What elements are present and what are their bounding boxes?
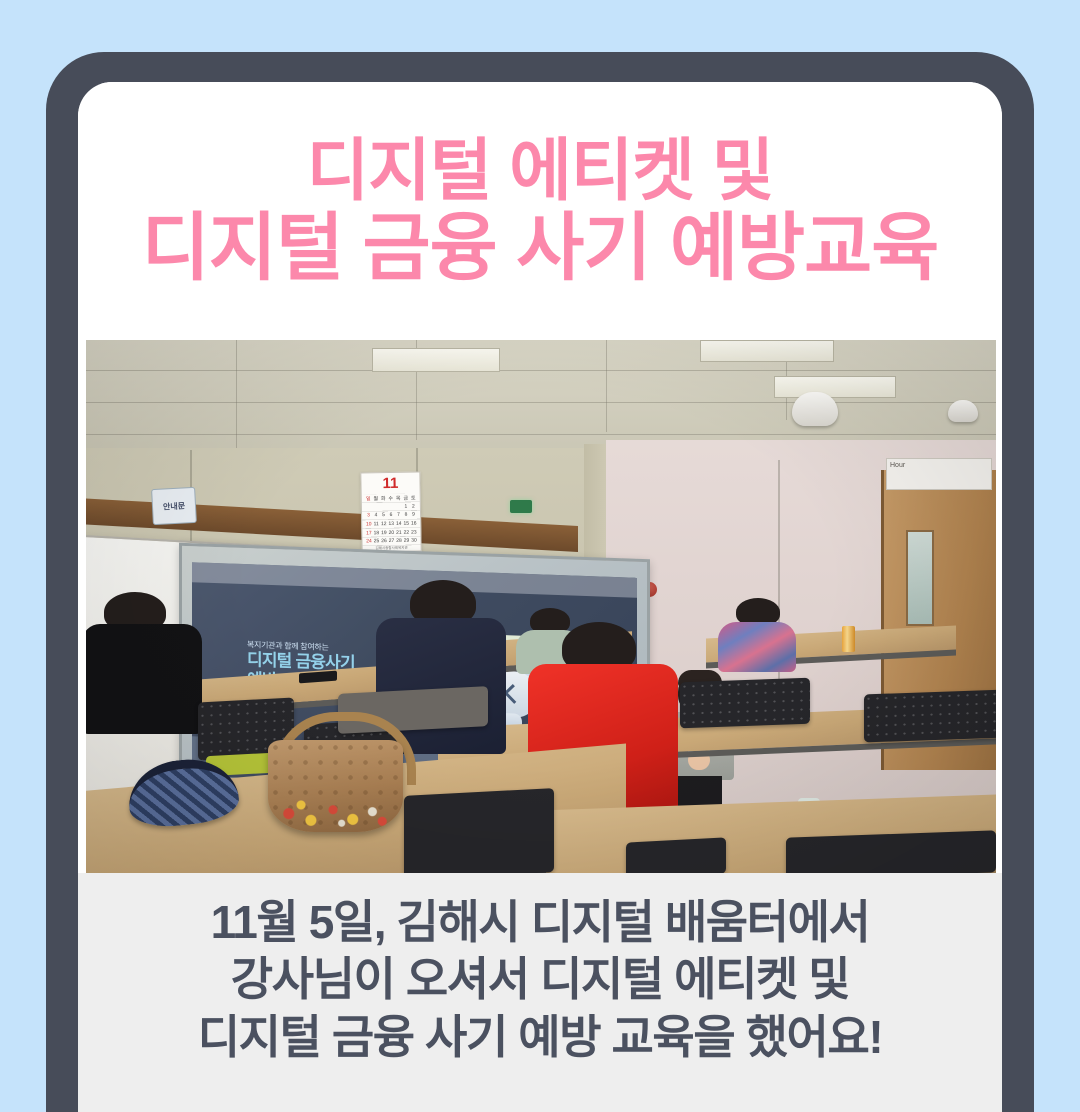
- card-frame: 디지털 에티켓 및 디지털 금융 사기 예방교육: [46, 52, 1034, 1112]
- student-person: [718, 598, 796, 668]
- ceiling-light: [700, 340, 834, 362]
- drink-can: [842, 626, 855, 652]
- door-window: [906, 530, 934, 626]
- chair[interactable]: [626, 837, 726, 873]
- door-poster-label: Hour: [886, 458, 992, 490]
- exit-sign-icon: [510, 500, 532, 513]
- title-block: 디지털 에티켓 및 디지털 금융 사기 예방교육: [78, 82, 1002, 340]
- student-jacket-floral: [718, 622, 796, 672]
- ceiling-grid-line: [86, 402, 996, 403]
- ceiling-grid-line: [86, 370, 996, 371]
- calendar-month: 11: [361, 472, 419, 491]
- caption-line-1: 11월 5일, 김해시 디지털 배움터에서: [211, 895, 870, 949]
- card-inner: 디지털 에티켓 및 디지털 금융 사기 예방교육: [78, 82, 1002, 1112]
- ceiling-light: [774, 376, 896, 398]
- caption-line-3: 디지털 금융 사기 예방 교육을 했어요!: [198, 1010, 883, 1064]
- page-title-line-2: 디지털 금융 사기 예방교육: [142, 209, 939, 287]
- caption-block: 11월 5일, 김해시 디지털 배움터에서 강사님이 오셔서 디지털 에티켓 및…: [78, 873, 1002, 1112]
- ceiling-grid-line: [86, 434, 996, 435]
- ceiling-grid-line: [606, 340, 607, 432]
- ceiling-grid-line: [236, 340, 237, 450]
- chair[interactable]: [404, 788, 554, 873]
- wall-calendar: 11 일월화수목금토 12 3456789 10111213141516 171…: [360, 471, 421, 552]
- classroom-photo: Hour 안내문 청년 서포터즈단과 함께하는 시니어 디지털 문해력 향상 교…: [86, 340, 996, 873]
- board-clip-note: 안내문: [151, 487, 197, 525]
- student-person: [86, 592, 202, 732]
- student-jacket-black: [86, 624, 202, 734]
- chair[interactable]: [786, 830, 996, 873]
- photo-scene: Hour 안내문 청년 서포터즈단과 함께하는 시니어 디지털 문해력 향상 교…: [86, 340, 996, 873]
- calendar-grid: 일월화수목금토 12 3456789 10111213141516 171819…: [362, 493, 421, 546]
- page-title-line-1: 디지털 에티켓 및: [307, 135, 774, 207]
- handbag-floral-pattern: [274, 780, 397, 828]
- ceiling-light: [372, 348, 500, 372]
- calendar-week-row: 24252627282930: [365, 537, 417, 547]
- caption-line-2: 강사님이 오셔서 디지털 에티켓 및: [231, 952, 849, 1006]
- ceiling-speaker: [948, 400, 978, 422]
- chair[interactable]: [680, 678, 810, 729]
- ceiling-speaker: [792, 392, 838, 426]
- floral-handbag: [268, 740, 403, 832]
- chair[interactable]: [864, 690, 996, 743]
